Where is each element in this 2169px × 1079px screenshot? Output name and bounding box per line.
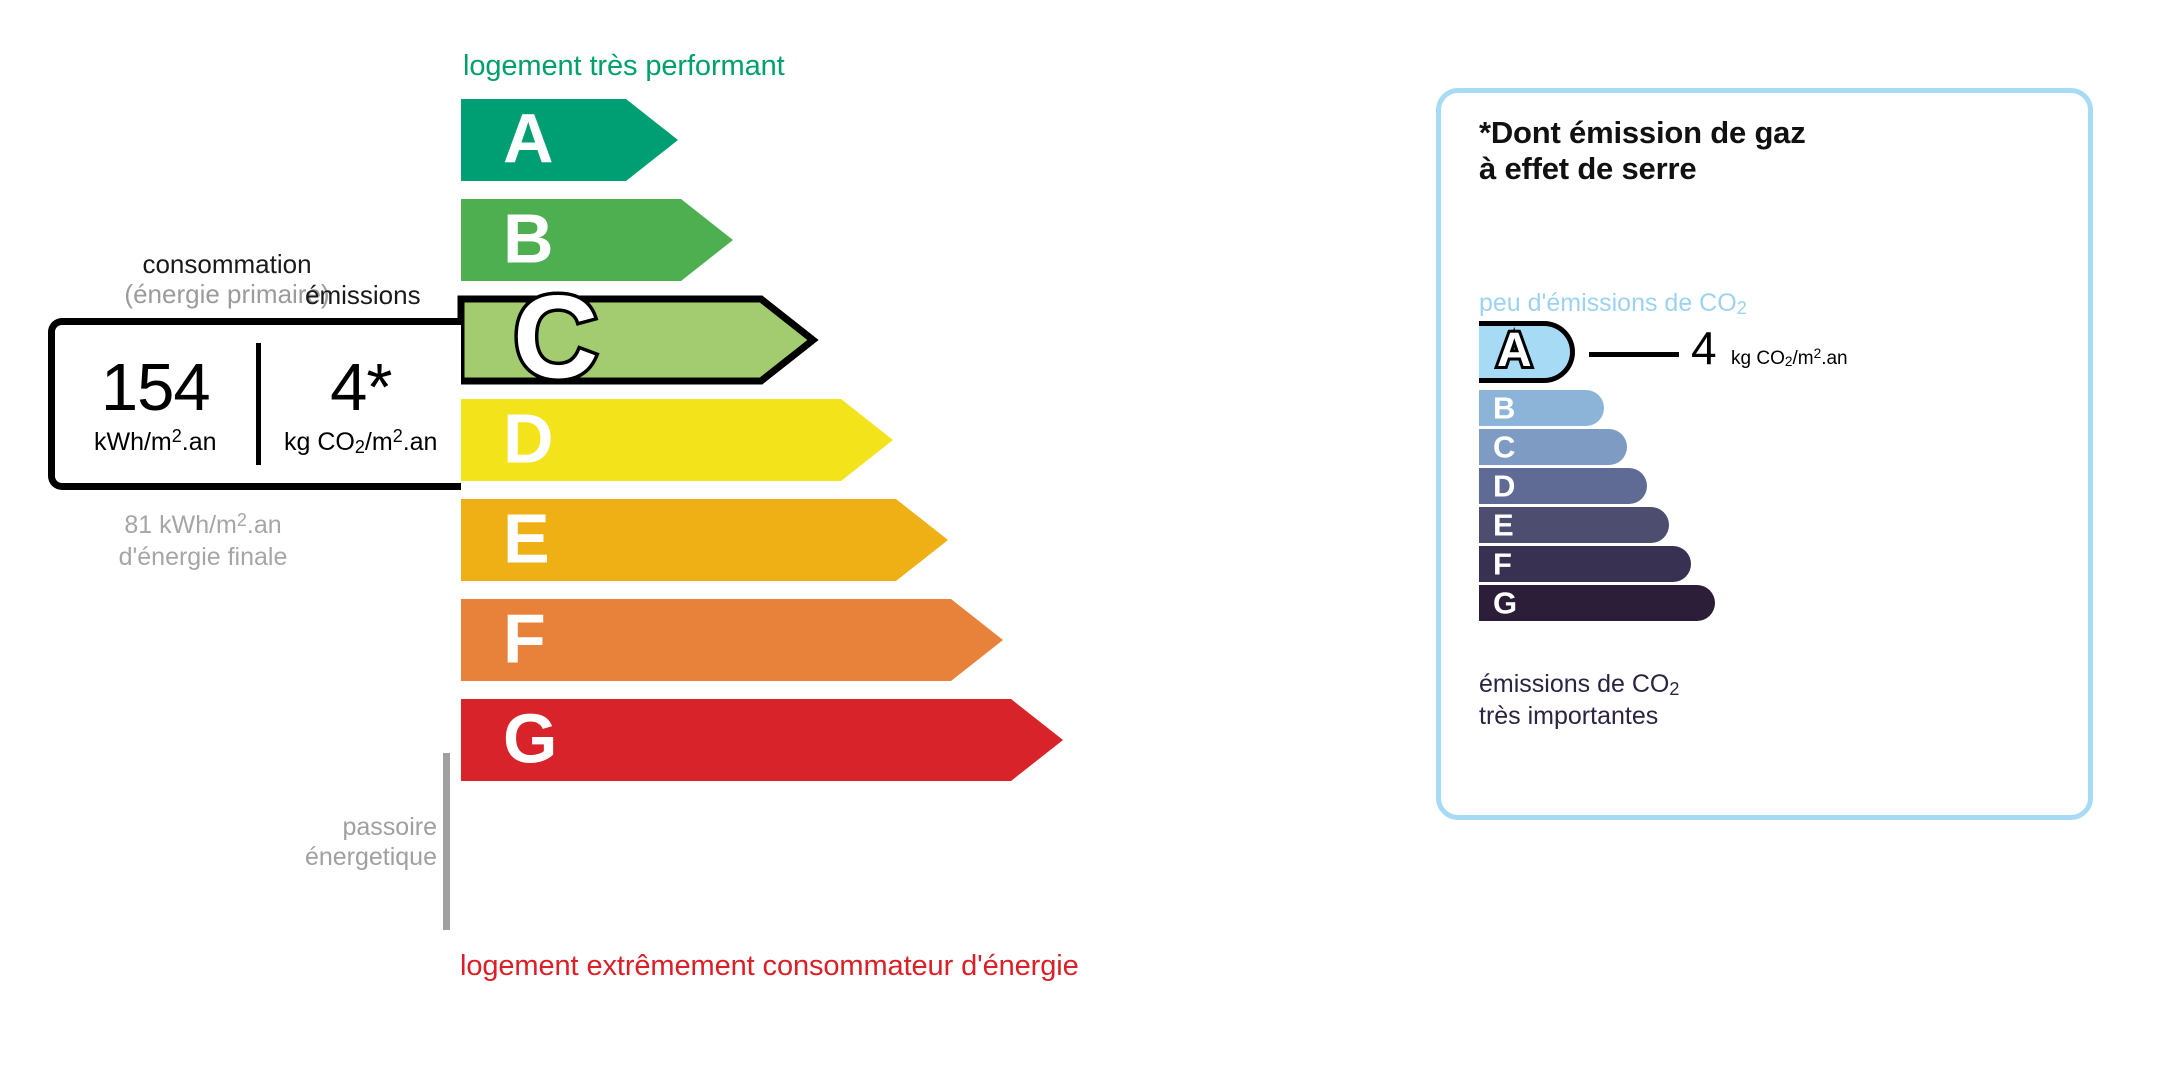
final-energy-value: 81 kWh/m xyxy=(124,511,237,539)
value-cell-co2: 4* kg CO2/m2.an xyxy=(261,325,462,483)
value-cell-energy: 154 kWh/m2.an xyxy=(55,325,256,483)
band-letter-e: E xyxy=(503,504,550,574)
co2-row-a: A4kg CO2/m2.an xyxy=(1479,321,2059,383)
co2-value-number: 4 xyxy=(1691,325,1717,371)
co2-value-unit: kg CO2/m2.an xyxy=(1731,348,1848,370)
co2-leader-line xyxy=(1589,352,1679,357)
energy-value: 154 xyxy=(101,356,210,420)
band-letter-a: A xyxy=(503,104,554,174)
co2-letter-b: B xyxy=(1493,393,1515,424)
band-letter-f: F xyxy=(503,604,546,674)
band-letter-b: B xyxy=(503,204,554,274)
co2-row-b: B xyxy=(1479,390,2059,426)
caption-bottom-consumption: logement extrêmement consommateur d'éner… xyxy=(460,950,1079,983)
co2-unit: kg CO2/m2.an xyxy=(284,428,437,457)
band-letter-d: D xyxy=(503,404,554,474)
co2-bar-chart: A4kg CO2/m2.anBCDEFG xyxy=(1479,321,2059,624)
co2-caption-low: peu d'émissions de CO2 xyxy=(1479,289,1747,318)
passoire-energetique-bracket xyxy=(443,753,450,930)
energy-band-g: G xyxy=(461,699,1063,781)
band-shape-a xyxy=(461,99,678,181)
energy-band-f: F xyxy=(461,599,1003,681)
passoire-energetique-label: passoire énergetique xyxy=(232,812,437,872)
co2-row-f: F xyxy=(1479,546,2059,582)
final-energy-note: 81 kWh/m2.an d'énergie finale xyxy=(68,510,338,572)
co2-row-d: D xyxy=(1479,468,2059,504)
co2-letter-a: A xyxy=(1497,327,1532,375)
dpe-energy-label: logement très performant consommation (é… xyxy=(0,0,2169,1079)
co2-value: 4* xyxy=(330,356,391,420)
band-shape-b xyxy=(461,199,733,281)
band-letter-c: C xyxy=(513,279,598,397)
energy-band-c: C xyxy=(455,293,819,387)
co2-row-c: C xyxy=(1479,429,2059,465)
energy-band-a: A xyxy=(461,99,678,181)
energy-band-e: E xyxy=(461,499,948,581)
energy-unit: kWh/m2.an xyxy=(94,428,217,457)
energy-band-b: B xyxy=(461,199,733,281)
final-energy-label: d'énergie finale xyxy=(119,543,288,571)
co2-caption-high: émissions de CO2 très importantes xyxy=(1479,669,1679,731)
energy-band-d: D xyxy=(461,399,893,481)
co2-panel-title: *Dont émission de gaz à effet de serre xyxy=(1479,115,1806,187)
value-box: 154 kWh/m2.an 4* kg CO2/m2.an xyxy=(48,318,461,490)
co2-row-e: E xyxy=(1479,507,2059,543)
band-letter-g: G xyxy=(503,704,557,774)
co2-letter-d: D xyxy=(1493,471,1515,502)
co2-letter-f: F xyxy=(1493,549,1512,580)
co2-panel: *Dont émission de gaz à effet de serre p… xyxy=(1436,88,2093,820)
co2-letter-g: G xyxy=(1493,588,1517,619)
co2-letter-c: C xyxy=(1493,432,1515,463)
co2-row-g: G xyxy=(1479,585,2059,621)
co2-letter-e: E xyxy=(1493,510,1514,541)
